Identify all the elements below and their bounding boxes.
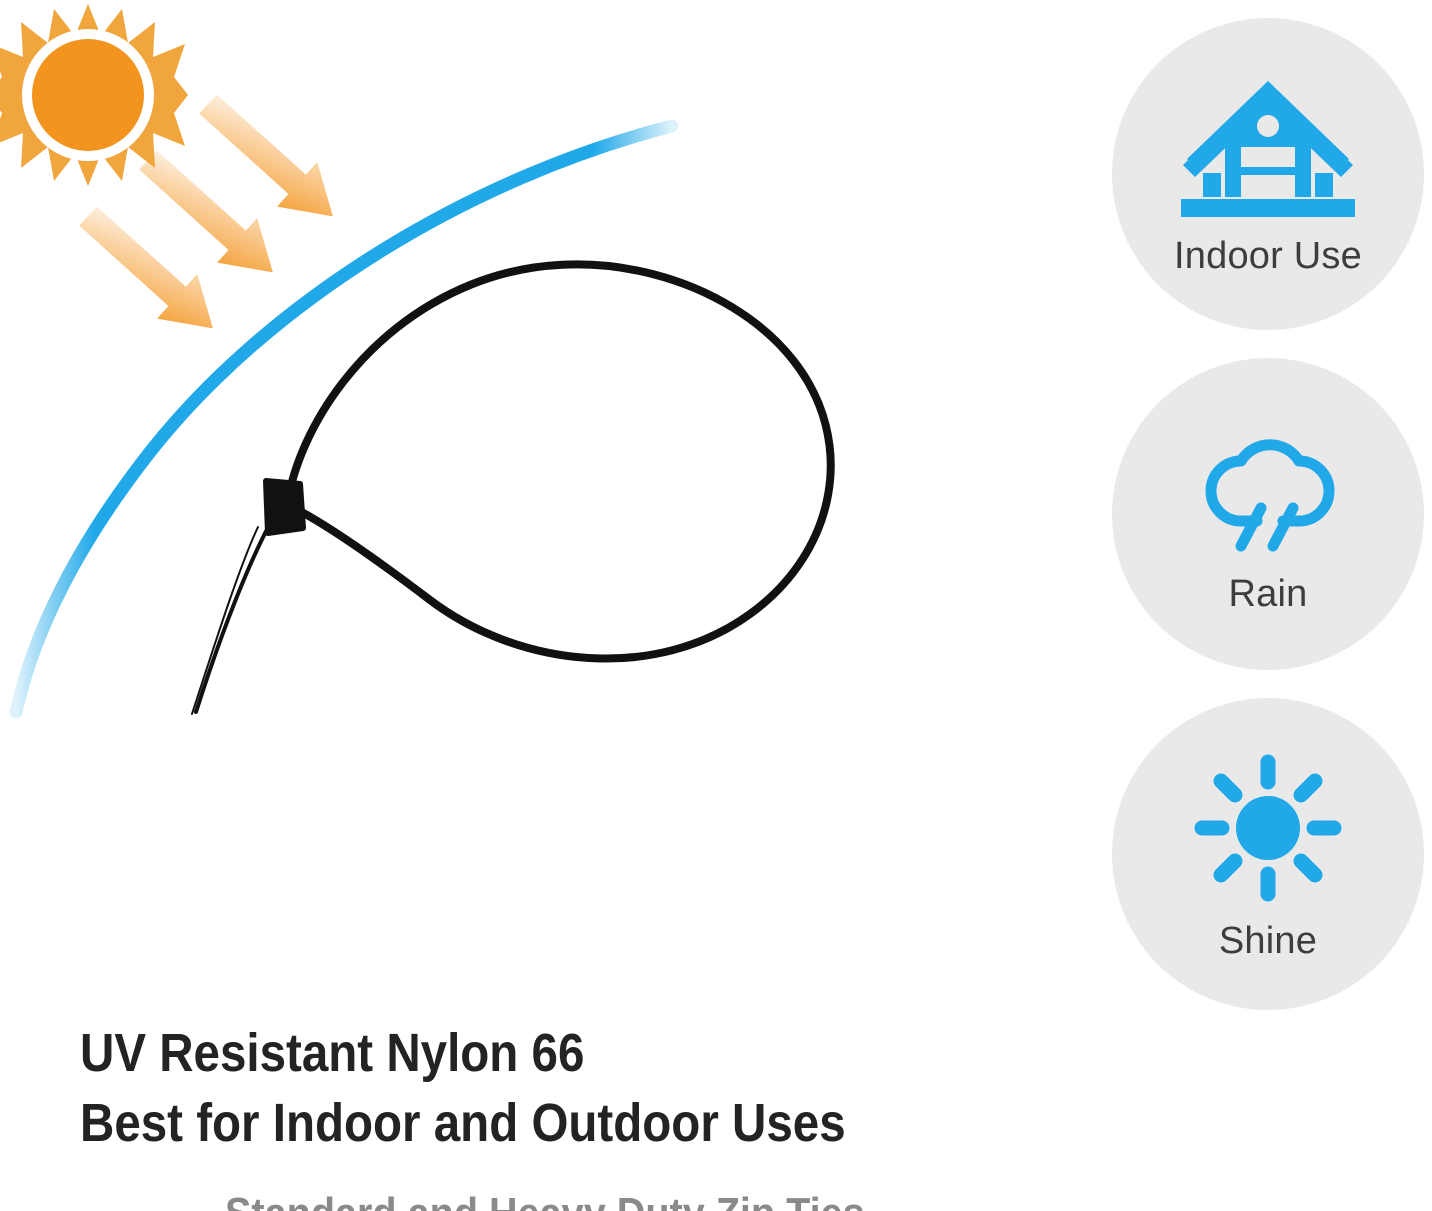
product-feature-banner: Indoor Use Rain <box>0 0 1432 1211</box>
cable-tie-head <box>266 481 303 533</box>
cable-tie-tail-edge <box>192 527 258 714</box>
feature-badge-shine[interactable]: Shine <box>1112 698 1424 1010</box>
feature-badge-column: Indoor Use Rain <box>1112 18 1424 1038</box>
house-icon <box>1173 73 1363 223</box>
uv-resistant-cable-tie-illustration <box>0 0 1090 1000</box>
cut-off-caption: Standard and Heavy Duty Zip Ties <box>225 1192 1225 1211</box>
cable-tie-loop <box>288 264 831 658</box>
feature-badge-indoor-use[interactable]: Indoor Use <box>1112 18 1424 330</box>
headline-line-1: UV Resistant Nylon 66 <box>80 1018 942 1088</box>
headline-line-2: Best for Indoor and Outdoor Uses <box>80 1088 942 1158</box>
cut-off-caption-text: Standard and Heavy Duty Zip Ties <box>225 1192 1125 1211</box>
feature-label-shine: Shine <box>1219 922 1317 960</box>
cable-tie-tail <box>196 520 272 712</box>
page-title: UV Resistant Nylon 66 Best for Indoor an… <box>80 1018 1060 1158</box>
uv-shield-arc-icon <box>16 126 672 712</box>
cable-tie-icon <box>192 264 831 714</box>
sun-disc <box>32 39 144 151</box>
feature-label-indoor-use: Indoor Use <box>1174 237 1362 275</box>
feature-badge-rain[interactable]: Rain <box>1112 358 1424 670</box>
feature-label-rain: Rain <box>1229 575 1308 613</box>
sun-shine-icon <box>1188 748 1348 908</box>
rain-cloud-icon <box>1183 416 1353 561</box>
